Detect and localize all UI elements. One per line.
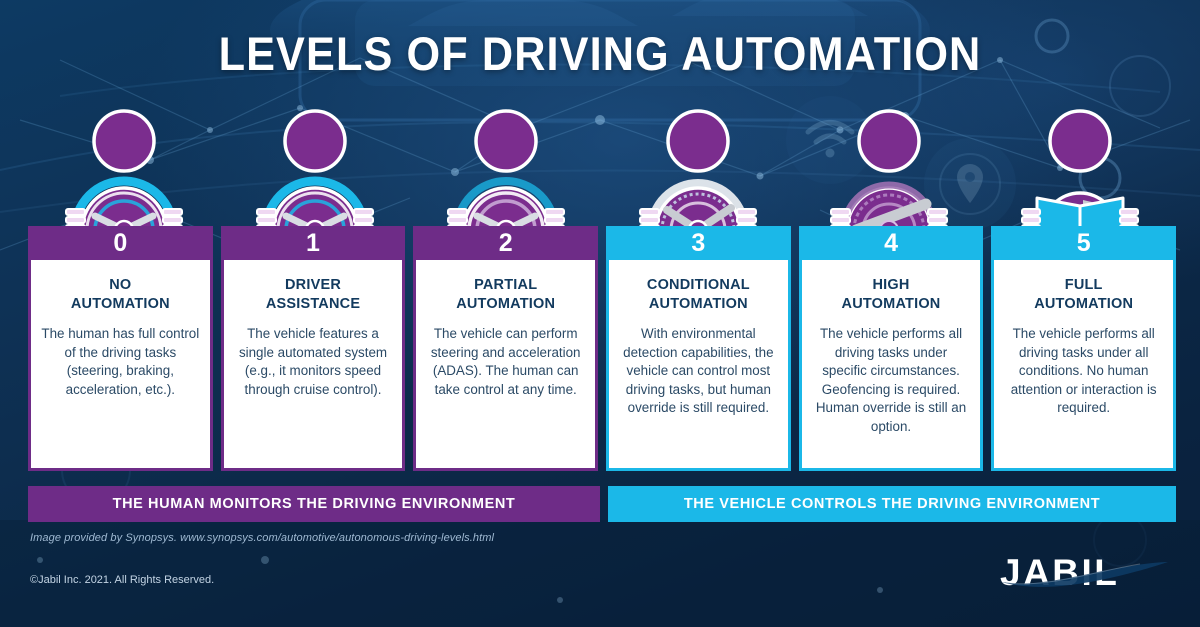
banner-human-monitors: THE HUMAN MONITORS THE DRIVING ENVIRONME… bbox=[28, 486, 600, 522]
figure-level-3 bbox=[602, 108, 793, 230]
driver-hands-on-wheel-icon bbox=[256, 108, 374, 230]
attribution-text: Image provided by Synopsys. www.synopsys… bbox=[30, 532, 494, 544]
level-description: The vehicle features a single automated … bbox=[234, 325, 393, 399]
driver-wheel-faded-icon bbox=[830, 108, 948, 230]
level-title: DRIVER ASSISTANCE bbox=[234, 276, 393, 313]
level-card-2[interactable]: 2 PARTIAL AUTOMATION The vehicle can per… bbox=[413, 226, 598, 471]
level-card-body: PARTIAL AUTOMATION The vehicle can perfo… bbox=[416, 260, 595, 468]
level-card-body: FULL AUTOMATION The vehicle performs all… bbox=[994, 260, 1173, 468]
level-card-body: NO AUTOMATION The human has full control… bbox=[31, 260, 210, 468]
figure-level-4 bbox=[793, 108, 984, 230]
level-card-1[interactable]: 1 DRIVER ASSISTANCE The vehicle features… bbox=[221, 226, 406, 471]
level-card-0[interactable]: 0 NO AUTOMATION The human has full contr… bbox=[28, 226, 213, 471]
level-title: PARTIAL AUTOMATION bbox=[426, 276, 585, 313]
level-number: 4 bbox=[799, 226, 984, 260]
level-title: HIGH AUTOMATION bbox=[812, 276, 971, 313]
banner-vehicle-controls: THE VEHICLE CONTROLS THE DRIVING ENVIRON… bbox=[608, 486, 1176, 522]
figure-level-0 bbox=[28, 108, 219, 230]
driver-hands-on-wheel-icon bbox=[447, 108, 565, 230]
levels-row: 0 NO AUTOMATION The human has full contr… bbox=[28, 226, 1176, 471]
level-title: NO AUTOMATION bbox=[41, 276, 200, 313]
level-card-body: HIGH AUTOMATION The vehicle performs all… bbox=[802, 260, 981, 468]
infographic-canvas: LEVELS OF DRIVING AUTOMATION bbox=[0, 0, 1200, 627]
level-description: With environmental detection capabilitie… bbox=[619, 325, 778, 418]
driver-wheel-faded-icon bbox=[639, 108, 757, 230]
level-card-4[interactable]: 4 HIGH AUTOMATION The vehicle performs a… bbox=[799, 226, 984, 471]
figures-row bbox=[28, 108, 1176, 230]
level-number: 1 bbox=[221, 226, 406, 260]
figure-level-1 bbox=[219, 108, 410, 230]
level-number: 2 bbox=[413, 226, 598, 260]
level-card-3[interactable]: 3 CONDITIONAL AUTOMATION With environmen… bbox=[606, 226, 791, 471]
jabil-logo: JABIL bbox=[1000, 552, 1170, 594]
page-title: LEVELS OF DRIVING AUTOMATION bbox=[48, 26, 1152, 81]
level-description: The human has full control of the drivin… bbox=[41, 325, 200, 399]
responsibility-banners: THE HUMAN MONITORS THE DRIVING ENVIRONME… bbox=[28, 486, 1176, 522]
level-description: The vehicle performs all driving tasks u… bbox=[1004, 325, 1163, 418]
level-title: FULL AUTOMATION bbox=[1004, 276, 1163, 313]
level-card-body: CONDITIONAL AUTOMATION With environmenta… bbox=[609, 260, 788, 468]
figure-level-5 bbox=[985, 108, 1176, 230]
level-description: The vehicle performs all driving tasks u… bbox=[812, 325, 971, 436]
level-title: CONDITIONAL AUTOMATION bbox=[619, 276, 778, 313]
figure-level-2 bbox=[411, 108, 602, 230]
passenger-reading-book-icon bbox=[1021, 108, 1139, 230]
car-silhouette-icon bbox=[408, 0, 868, 26]
level-card-body: DRIVER ASSISTANCE The vehicle features a… bbox=[224, 260, 403, 468]
level-number: 0 bbox=[28, 226, 213, 260]
copyright-text: ©Jabil Inc. 2021. All Rights Reserved. bbox=[30, 574, 214, 586]
level-description: The vehicle can perform steering and acc… bbox=[426, 325, 585, 399]
level-card-5[interactable]: 5 FULL AUTOMATION The vehicle performs a… bbox=[991, 226, 1176, 471]
level-number: 5 bbox=[991, 226, 1176, 260]
level-number: 3 bbox=[606, 226, 791, 260]
driver-hands-on-wheel-icon bbox=[65, 108, 183, 230]
